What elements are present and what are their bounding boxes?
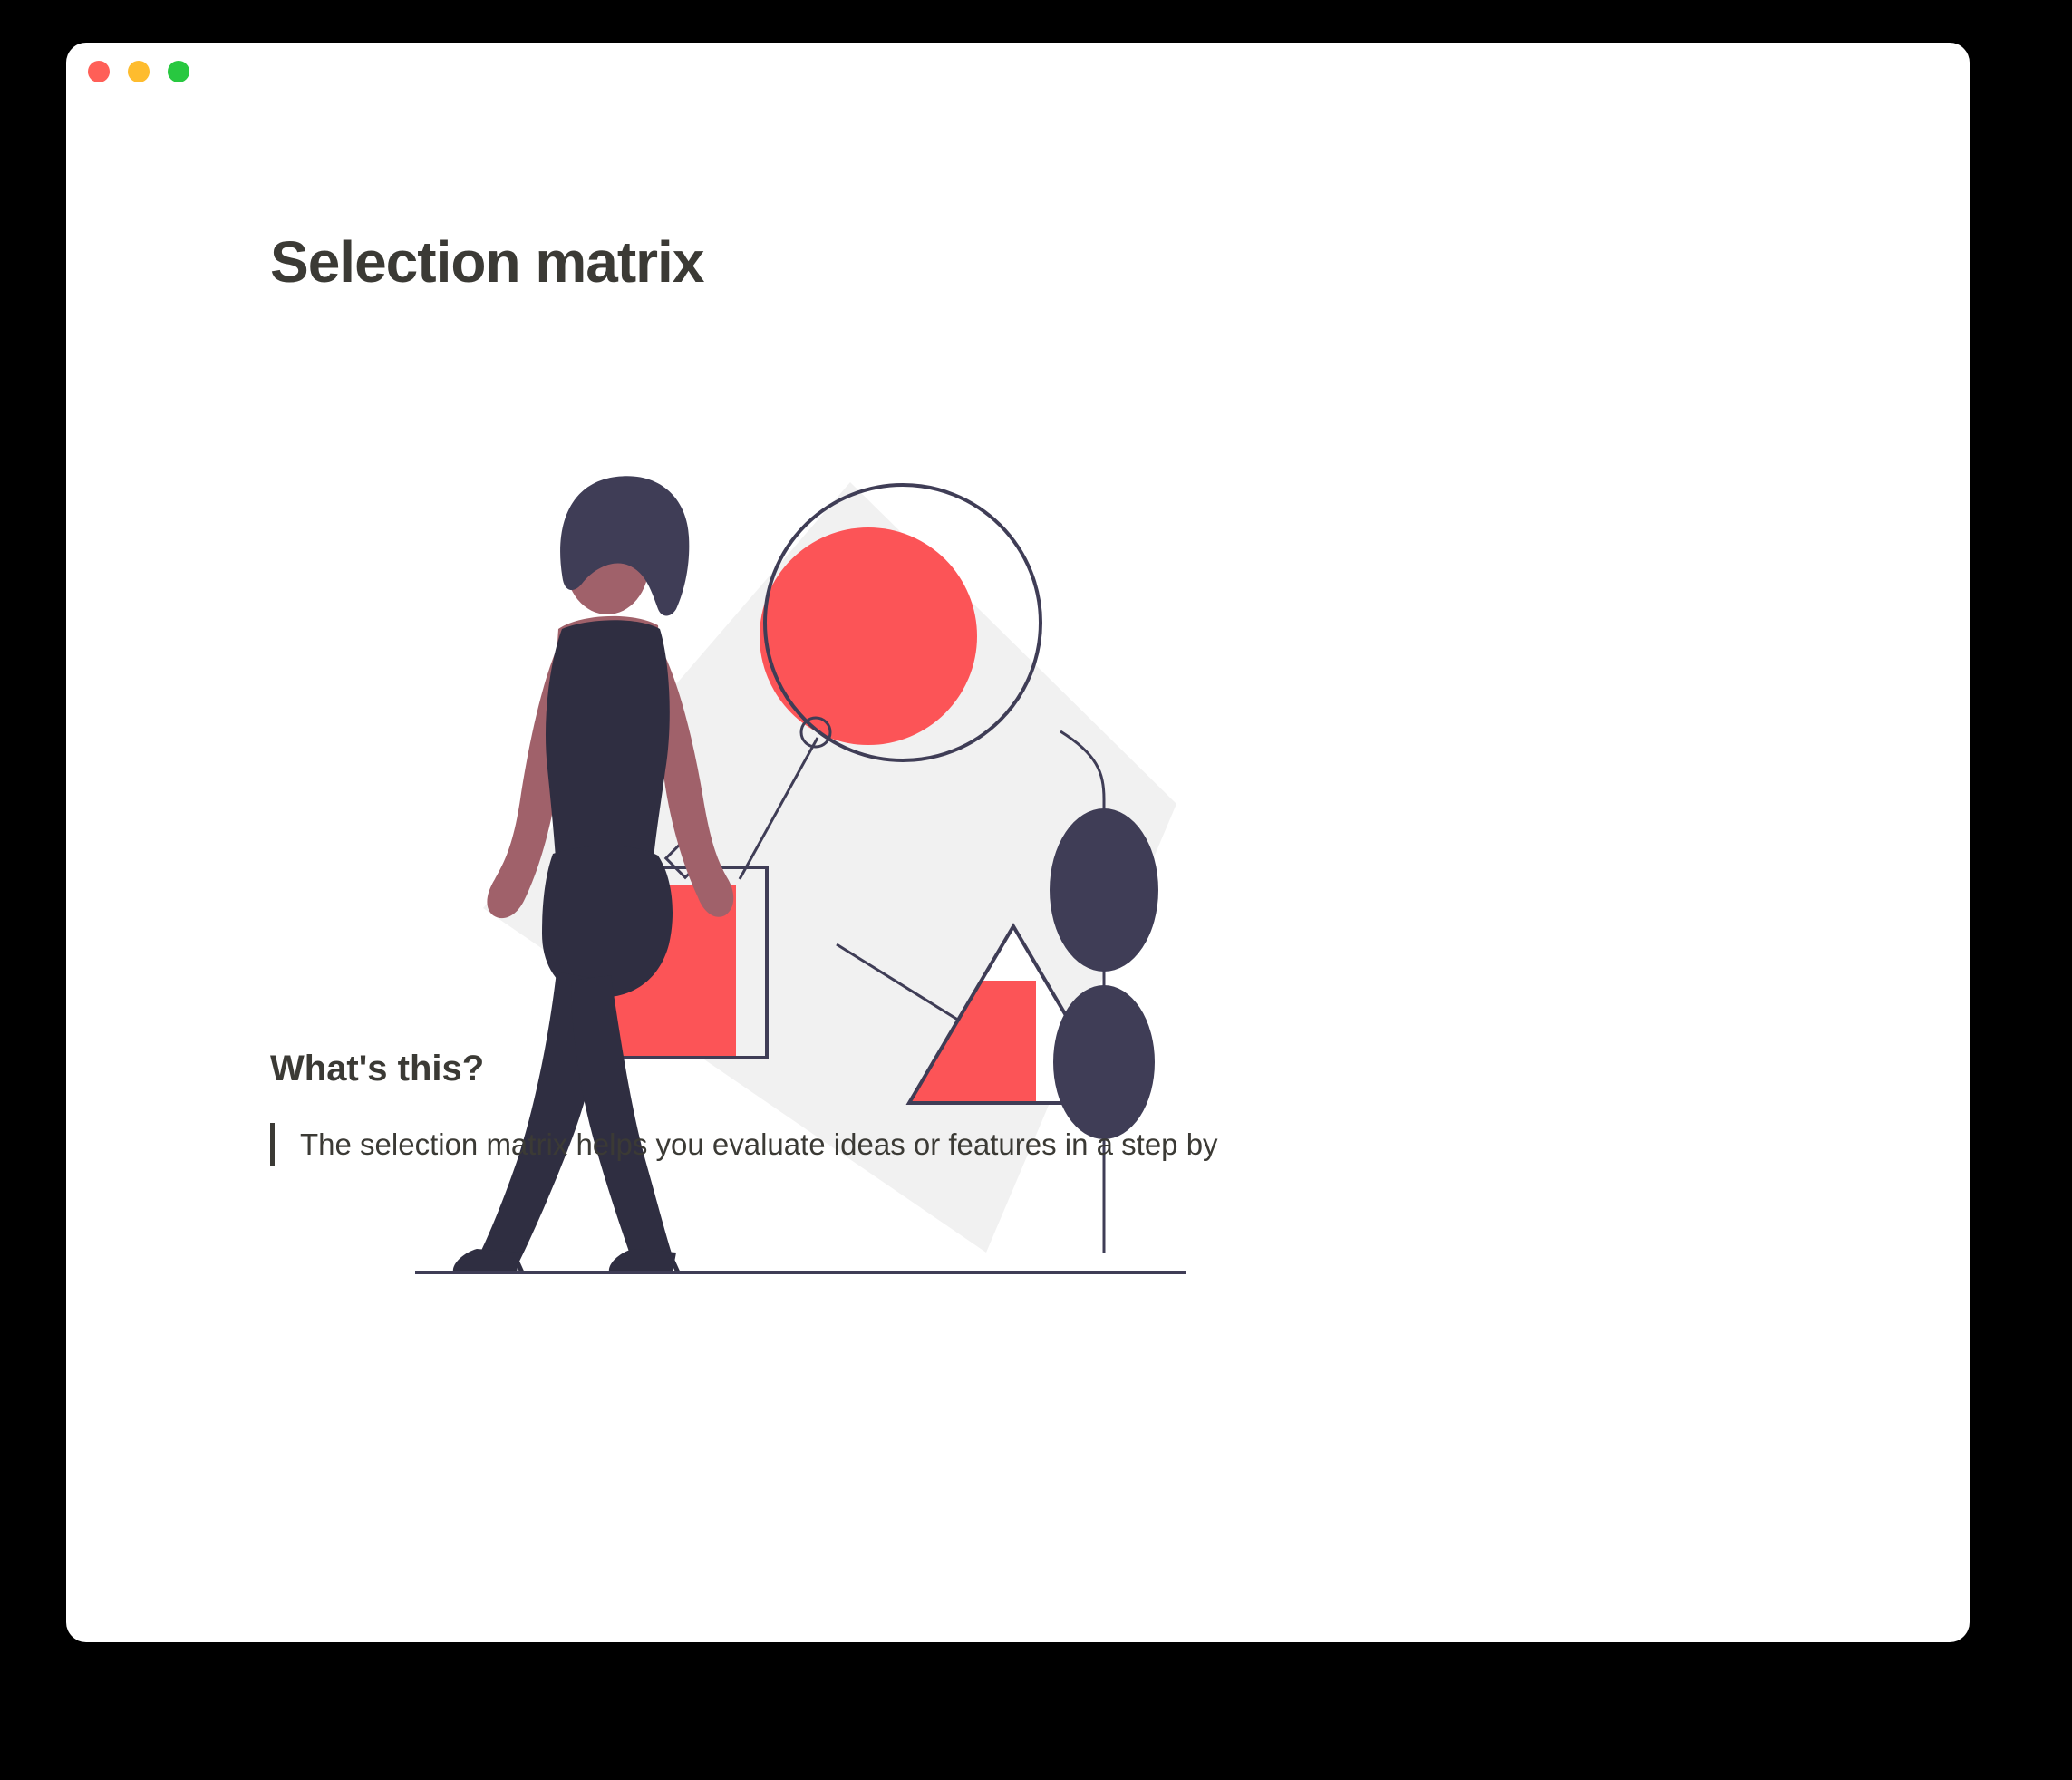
description-blockquote: The selection matrix helps you evaluate … xyxy=(270,1123,1218,1166)
page-title: Selection matrix xyxy=(270,228,703,295)
woman-torso xyxy=(546,620,670,872)
minimize-window-button[interactable] xyxy=(128,61,150,82)
magnifier-red-disc xyxy=(760,527,977,745)
section-heading: What's this? xyxy=(270,1049,484,1089)
close-window-button[interactable] xyxy=(88,61,110,82)
maximize-window-button[interactable] xyxy=(168,61,189,82)
page-content: Selection matrix xyxy=(66,115,1970,1642)
traffic-light-group xyxy=(88,61,189,82)
pale-bubble xyxy=(1013,695,1073,755)
description-text: The selection matrix helps you evaluate … xyxy=(300,1123,1218,1166)
woman-back-shoe xyxy=(453,1249,520,1272)
app-window: Selection matrix xyxy=(66,43,1970,1642)
window-titlebar xyxy=(66,43,1970,115)
plant-leaf-upper xyxy=(1050,808,1158,972)
plant-leaf-lower xyxy=(1053,985,1155,1139)
woman-front-shoe xyxy=(609,1249,676,1272)
